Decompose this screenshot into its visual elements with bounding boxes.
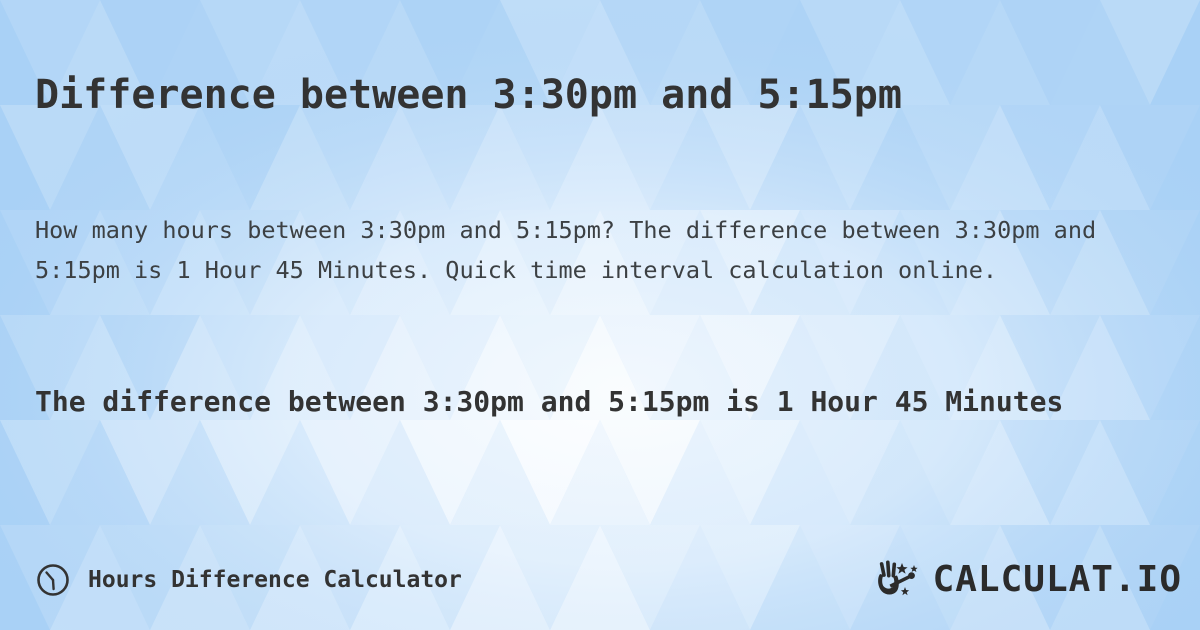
page-title: Difference between 3:30pm and 5:15pm <box>35 71 902 119</box>
clock-icon <box>36 563 70 597</box>
tool-label: Hours Difference Calculator <box>88 567 462 593</box>
brand-logo[interactable]: CALCULAT.IO <box>875 550 1182 610</box>
hand-magic-wand-icon <box>875 560 931 600</box>
brand-name: CALCULAT.IO <box>933 562 1182 598</box>
footer: Hours Difference Calculator <box>0 550 1200 610</box>
tool-link[interactable]: Hours Difference Calculator <box>36 550 462 610</box>
og-image-card: Difference between 3:30pm and 5:15pm How… <box>0 0 1200 630</box>
result-heading: The difference between 3:30pm and 5:15pm… <box>35 378 1135 426</box>
intro-paragraph: How many hours between 3:30pm and 5:15pm… <box>35 210 1145 290</box>
